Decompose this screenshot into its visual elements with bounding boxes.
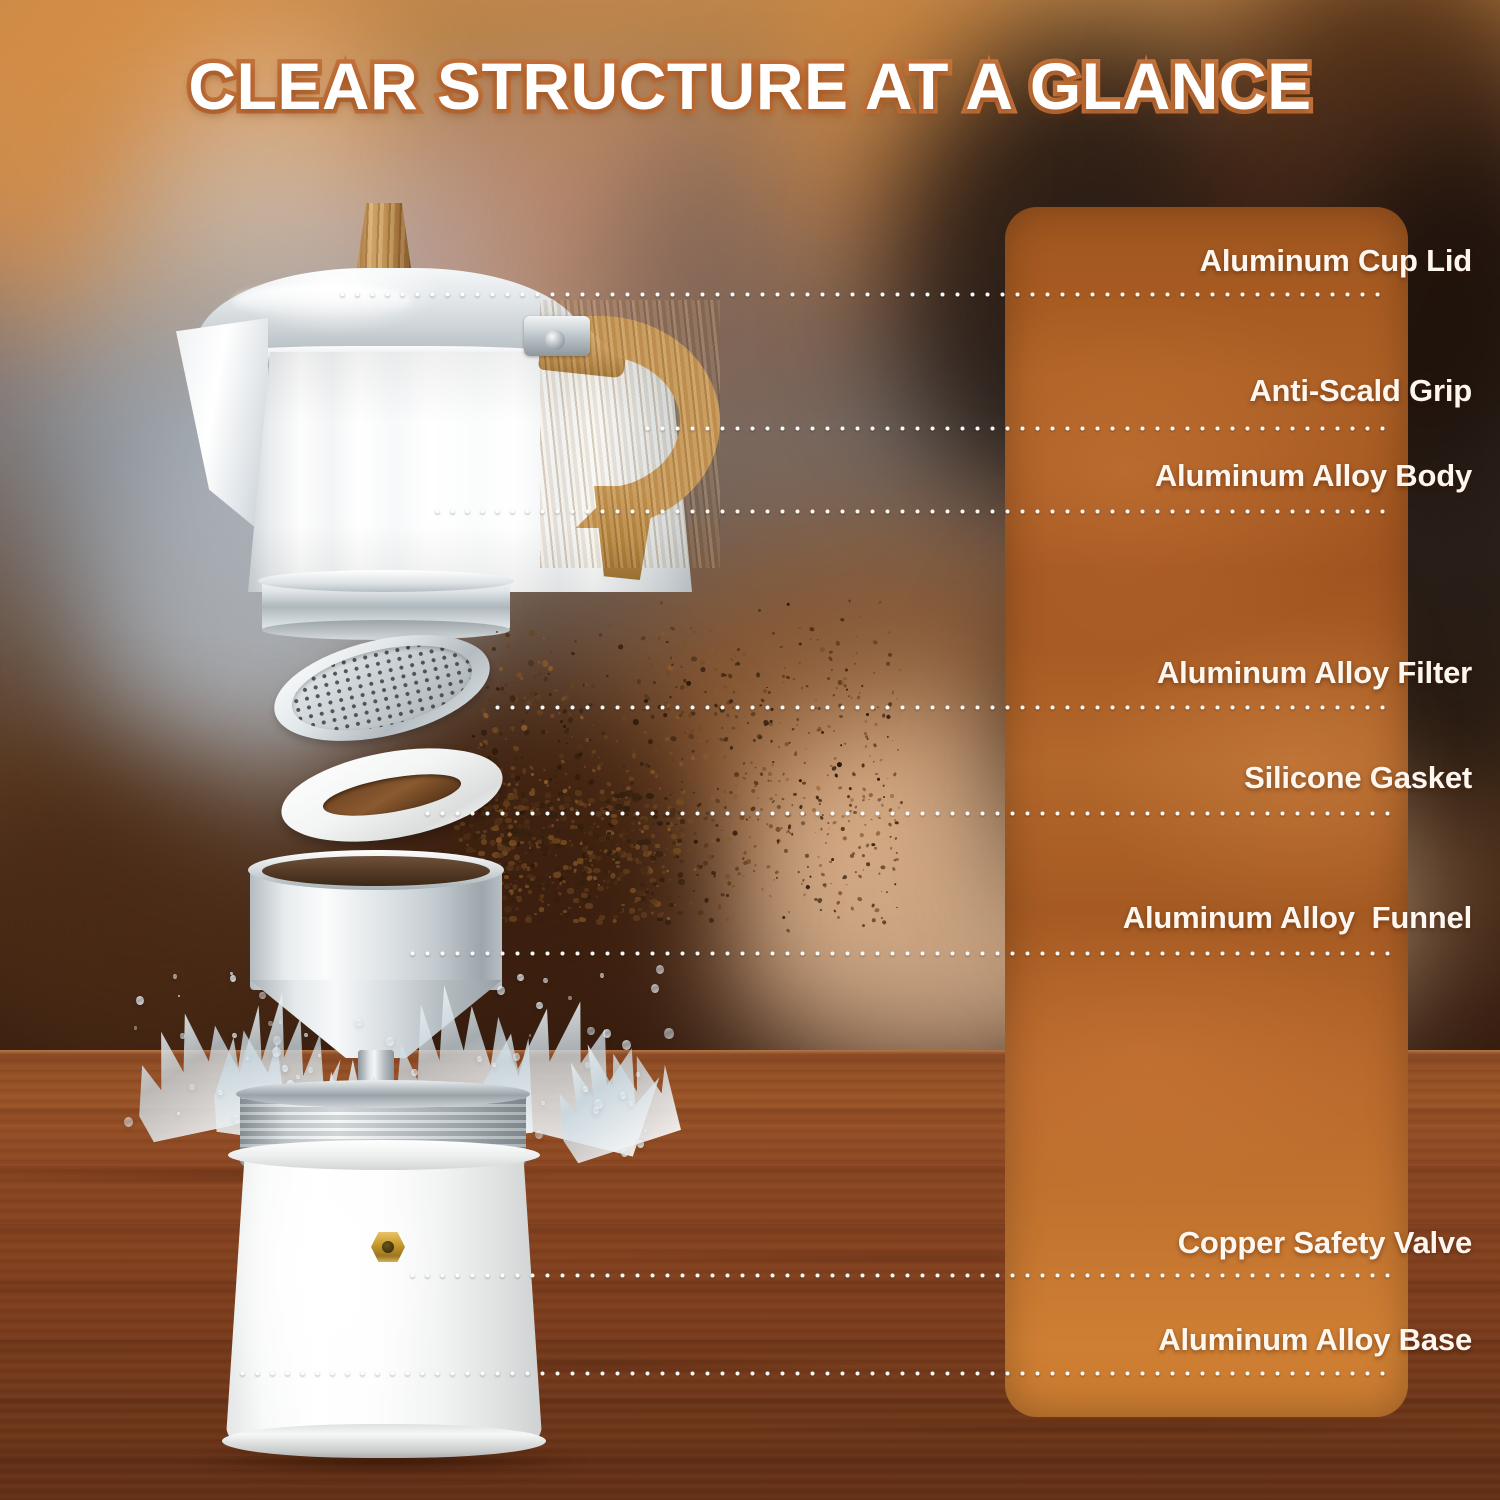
infographic-canvas: CLEAR STRUCTURE AT A GLANCE xyxy=(0,0,1500,1500)
base-chamber xyxy=(226,1150,542,1450)
callout-leader-aluminum-alloy-base xyxy=(235,1370,1390,1377)
callout-leader-aluminum-alloy-filter xyxy=(490,704,1390,711)
base-foot xyxy=(222,1424,546,1458)
lid-highlight xyxy=(232,284,412,318)
callout-leader-aluminum-alloy-body xyxy=(430,508,1390,515)
callout-label-anti-scald-grip: Anti-Scald Grip xyxy=(1249,373,1472,409)
callout-label-silicone-gasket: Silicone Gasket xyxy=(1244,760,1472,796)
callout-label-aluminum-alloy-filter: Aluminum Alloy Filter xyxy=(1157,655,1472,691)
safety-valve-hole xyxy=(382,1241,394,1253)
base-top-rim xyxy=(228,1140,540,1170)
callout-label-copper-safety-valve: Copper Safety Valve xyxy=(1178,1225,1472,1261)
handle-mount-screw xyxy=(545,330,565,350)
callout-leader-aluminum-cup-lid xyxy=(335,291,1390,298)
base-neck-rim xyxy=(236,1080,530,1108)
callout-label-aluminum-alloy-funnel: Aluminum Alloy Funnel xyxy=(1123,900,1472,936)
callout-leader-aluminum-alloy-funnel xyxy=(405,950,1390,957)
callout-leader-silicone-gasket xyxy=(420,810,1390,817)
callout-label-aluminum-alloy-base: Aluminum Alloy Base xyxy=(1158,1322,1472,1358)
callout-label-aluminum-cup-lid: Aluminum Cup Lid xyxy=(1200,243,1472,279)
lid-knob-wood xyxy=(356,203,412,275)
pour-spout xyxy=(176,318,268,538)
callout-leader-anti-scald-grip xyxy=(640,425,1390,432)
callout-label-aluminum-alloy-body: Aluminum Alloy Body xyxy=(1155,458,1472,494)
body-collar-top-rim xyxy=(258,570,514,592)
callout-leader-copper-safety-valve xyxy=(405,1272,1390,1279)
